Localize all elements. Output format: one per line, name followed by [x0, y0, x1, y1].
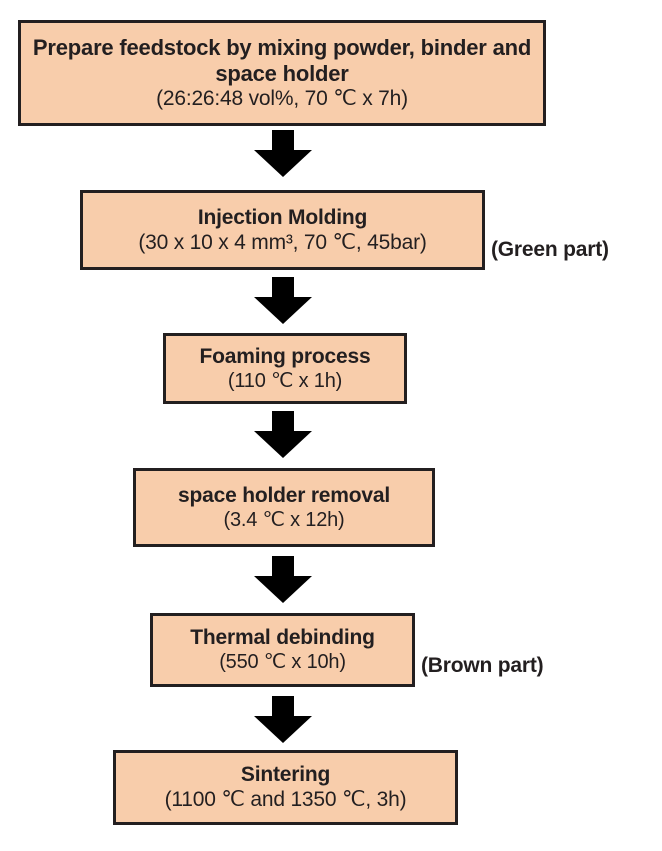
flow-node-params: (110 ℃ x 1h)	[228, 370, 342, 393]
flow-node-sintering: Sintering (1100 ℃ and 1350 ℃, 3h)	[113, 750, 458, 825]
flow-node-title: Injection Molding	[198, 206, 367, 230]
flow-node-params: (26:26:48 vol%, 70 ℃ x 7h)	[156, 87, 408, 111]
flow-arrow-down-icon	[252, 696, 314, 744]
flow-arrow-down-icon	[252, 277, 314, 325]
flow-node-title: Prepare feedstock by mixing powder, bind…	[27, 35, 537, 86]
flow-node-title: space holder removal	[178, 484, 390, 508]
flow-node-space-holder-removal: space holder removal (3.4 ℃ x 12h)	[133, 468, 435, 547]
flow-node-thermal-debinding: Thermal debinding (550 ℃ x 10h)	[150, 613, 415, 687]
flow-node-foaming-process: Foaming process (110 ℃ x 1h)	[163, 333, 407, 404]
flow-arrow-down-icon	[252, 411, 314, 459]
flow-node-injection-molding: Injection Molding (30 x 10 x 4 mm³, 70 ℃…	[80, 190, 485, 270]
annotation-green-part: (Green part)	[491, 238, 609, 262]
flow-node-params: (550 ℃ x 10h)	[219, 651, 346, 674]
flow-node-title: Foaming process	[200, 345, 371, 369]
flow-node-feedstock: Prepare feedstock by mixing powder, bind…	[18, 20, 546, 126]
flow-node-title: Thermal debinding	[190, 626, 374, 650]
annotation-brown-part: (Brown part)	[421, 654, 543, 678]
flow-node-title: Sintering	[241, 763, 330, 787]
flow-arrow-down-icon	[252, 556, 314, 604]
flow-node-params: (30 x 10 x 4 mm³, 70 ℃, 45bar)	[138, 231, 426, 255]
flow-arrow-down-icon	[252, 130, 314, 178]
process-flowchart: Prepare feedstock by mixing powder, bind…	[0, 0, 662, 851]
flow-node-params: (1100 ℃ and 1350 ℃, 3h)	[165, 788, 407, 812]
flow-node-params: (3.4 ℃ x 12h)	[223, 509, 344, 532]
